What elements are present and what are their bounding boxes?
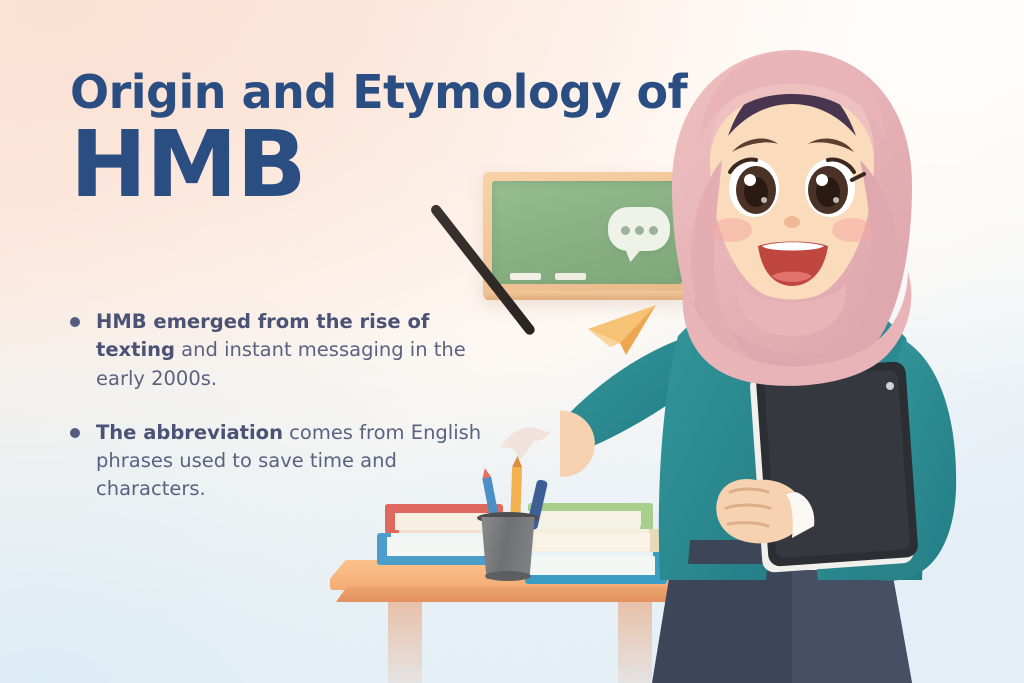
bullet-dot-icon xyxy=(70,428,80,438)
desk-leg xyxy=(388,600,422,683)
page-title-line2: HMB xyxy=(70,119,630,211)
bird-silhouette-icon xyxy=(497,418,555,470)
bullet-text: The abbreviation comes from English phra… xyxy=(96,419,502,504)
page-title-line1: Origin and Etymology of xyxy=(70,68,630,117)
pencil-cup-base xyxy=(485,571,531,581)
bullet-dot-icon xyxy=(70,317,80,327)
bullet-list: HMB emerged from the rise of texting and… xyxy=(62,308,502,530)
bullet-lead: The abbreviation xyxy=(96,421,283,444)
bullet-text: HMB emerged from the rise of texting and… xyxy=(96,308,502,393)
poster-canvas: Origin and Etymology of HMB HMB emerged … xyxy=(0,0,1024,683)
title-block: Origin and Etymology of HMB xyxy=(70,68,630,211)
list-item: HMB emerged from the rise of texting and… xyxy=(62,308,502,393)
chalk-piece xyxy=(510,273,541,280)
list-item: The abbreviation comes from English phra… xyxy=(62,419,502,504)
